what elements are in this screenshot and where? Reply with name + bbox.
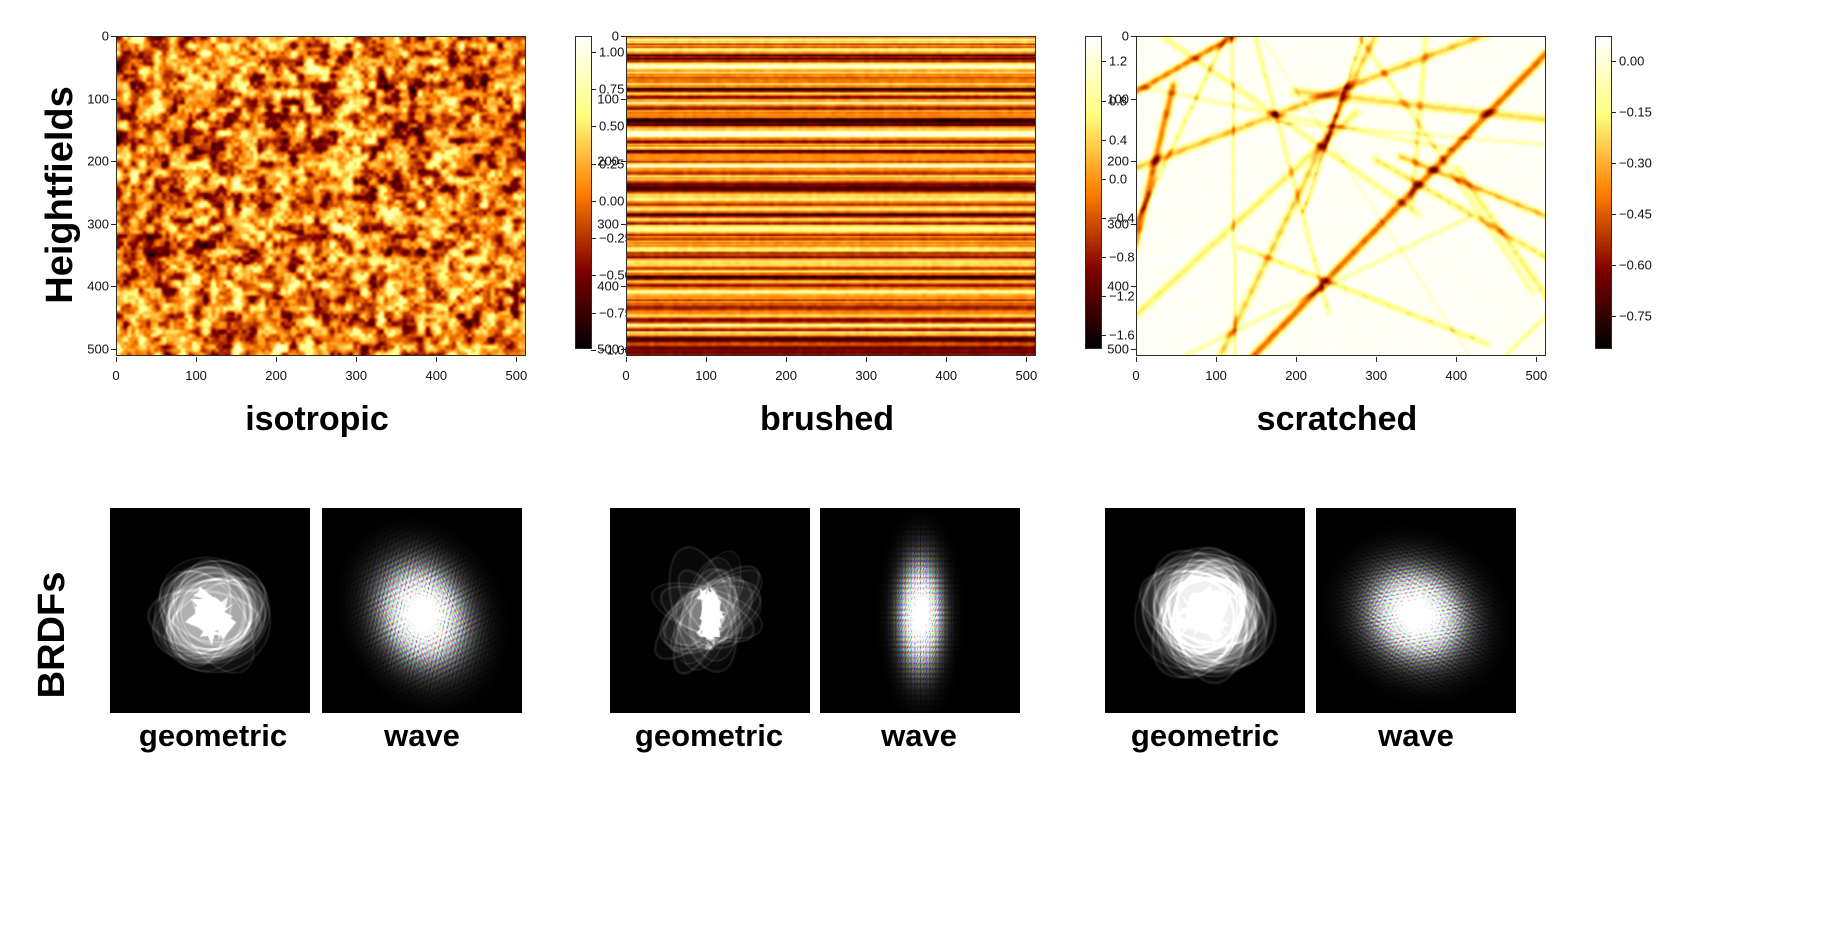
- x-tick-label: 0: [112, 368, 119, 383]
- y-tick-label: 100: [87, 91, 109, 106]
- colorbar-tick: [1611, 163, 1616, 164]
- y-tick-label: 200: [1107, 154, 1129, 169]
- colorbar-tick-label: 1.00: [599, 44, 624, 59]
- column-title-brushed: brushed: [760, 400, 894, 439]
- x-tick-label: 300: [1365, 368, 1387, 383]
- x-tick-label: 300: [855, 368, 877, 383]
- y-tick-mark: [621, 349, 626, 350]
- colorbar-tick-label: −0.8: [1109, 250, 1135, 265]
- x-tick-label: 400: [425, 368, 447, 383]
- column-title-scratched: scratched: [1257, 400, 1418, 439]
- colorbar-tick-label: −0.15: [1619, 104, 1652, 119]
- x-tick-mark: [706, 357, 707, 362]
- heightfield-plot-isotropic: [116, 36, 526, 356]
- y-tick-label: 500: [87, 341, 109, 356]
- colorbar-tick: [1101, 61, 1106, 62]
- x-tick-label: 200: [775, 368, 797, 383]
- y-tick-mark: [1131, 99, 1136, 100]
- x-tick-mark: [1536, 357, 1537, 362]
- colorbar-isotropic: 1.000.750.500.250.00−0.25−0.50−0.75−1.00: [575, 36, 592, 349]
- y-tick-mark: [1131, 161, 1136, 162]
- y-tick-label: 100: [597, 91, 619, 106]
- x-tick-label: 400: [1445, 368, 1467, 383]
- y-tick-label: 300: [1107, 216, 1129, 231]
- row-label-heightfields: Heightfields: [40, 80, 80, 310]
- colorbar-tick-label: −0.60: [1619, 257, 1652, 272]
- x-tick-mark: [436, 357, 437, 362]
- colorbar-tick: [1101, 335, 1106, 336]
- heightfield-image-scratched: [1137, 37, 1545, 355]
- colorbar-tick-label: −0.75: [1619, 308, 1652, 323]
- y-tick-mark: [1131, 36, 1136, 37]
- y-tick-mark: [1131, 286, 1136, 287]
- colorbar-tick: [1101, 140, 1106, 141]
- y-tick-mark: [111, 349, 116, 350]
- x-tick-mark: [1376, 357, 1377, 362]
- x-tick-label: 0: [1132, 368, 1139, 383]
- colorbar-tick: [1611, 214, 1616, 215]
- x-tick-mark: [1026, 357, 1027, 362]
- x-tick-label: 200: [1285, 368, 1307, 383]
- colorbar-tick: [1101, 179, 1106, 180]
- brdf-geometric-scratched: [1105, 508, 1305, 713]
- colorbar-scratched: 0.00−0.15−0.30−0.45−0.60−0.75: [1595, 36, 1612, 349]
- x-tick-label: 500: [1016, 368, 1038, 383]
- y-tick-mark: [621, 224, 626, 225]
- colorbar-tick-label: 0.4: [1109, 132, 1127, 147]
- x-tick-mark: [1216, 357, 1217, 362]
- colorbar-tick-label: 1.2: [1109, 54, 1127, 69]
- y-tick-label: 200: [87, 154, 109, 169]
- y-tick-mark: [621, 99, 626, 100]
- colorbar-tick-label: 0.00: [1619, 53, 1644, 68]
- y-tick-label: 400: [597, 279, 619, 294]
- colorbar-tick-label: 0.0: [1109, 171, 1127, 186]
- colorbar-tick-label: 0.00: [599, 193, 624, 208]
- colorbar-brushed: 1.20.80.40.0−0.4−0.8−1.2−1.6: [1085, 36, 1102, 349]
- brdf-wave-scratched: [1316, 508, 1516, 713]
- x-tick-label: 500: [1526, 368, 1548, 383]
- brdf-caption-wave-brushed: wave: [881, 718, 957, 754]
- x-tick-mark: [786, 357, 787, 362]
- brdf-wave-isotropic: [322, 508, 522, 713]
- colorbar-tick: [591, 313, 596, 314]
- colorbar-tick: [591, 52, 596, 53]
- colorbar-tick: [1101, 218, 1106, 219]
- colorbar-tick: [591, 126, 596, 127]
- x-tick-label: 100: [185, 368, 207, 383]
- x-tick-mark: [1136, 357, 1137, 362]
- colorbar-tick: [1101, 296, 1106, 297]
- colorbar-tick: [591, 201, 596, 202]
- colorbar-tick: [1101, 101, 1106, 102]
- y-tick-mark: [1131, 224, 1136, 225]
- y-tick-mark: [1131, 349, 1136, 350]
- x-tick-label: 100: [1205, 368, 1227, 383]
- colorbar-tick: [591, 275, 596, 276]
- y-tick-label: 100: [1107, 91, 1129, 106]
- y-tick-label: 500: [1107, 341, 1129, 356]
- x-tick-mark: [196, 357, 197, 362]
- brdf-geometric-isotropic: [110, 508, 310, 713]
- x-tick-label: 500: [506, 368, 528, 383]
- heightfield-image-brushed: [627, 37, 1035, 355]
- y-tick-label: 0: [1122, 29, 1129, 44]
- y-tick-label: 0: [102, 29, 109, 44]
- heightfield-plot-brushed: [626, 36, 1036, 356]
- x-tick-label: 200: [265, 368, 287, 383]
- figure-root: Heightfields BRDFs 010020030040050001002…: [0, 0, 1834, 926]
- x-tick-mark: [516, 357, 517, 362]
- brdf-geometric-brushed: [610, 508, 810, 713]
- x-tick-mark: [1456, 357, 1457, 362]
- y-tick-mark: [111, 99, 116, 100]
- x-tick-mark: [1296, 357, 1297, 362]
- colorbar-tick: [591, 350, 596, 351]
- x-tick-mark: [626, 357, 627, 362]
- y-tick-label: 400: [1107, 279, 1129, 294]
- x-tick-mark: [116, 357, 117, 362]
- x-tick-mark: [866, 357, 867, 362]
- y-tick-mark: [111, 224, 116, 225]
- brdf-caption-geometric-scratched: geometric: [1131, 718, 1279, 754]
- brdf-caption-wave-scratched: wave: [1378, 718, 1454, 754]
- y-tick-label: 300: [87, 216, 109, 231]
- x-tick-mark: [946, 357, 947, 362]
- heightfield-plot-scratched: [1136, 36, 1546, 356]
- y-tick-mark: [111, 286, 116, 287]
- y-tick-mark: [621, 36, 626, 37]
- y-tick-mark: [111, 161, 116, 162]
- x-tick-label: 400: [935, 368, 957, 383]
- y-tick-label: 500: [597, 341, 619, 356]
- colorbar-tick-label: −0.45: [1619, 206, 1652, 221]
- row-label-brdfs: BRDFs: [32, 545, 72, 725]
- y-tick-label: 300: [597, 216, 619, 231]
- x-tick-label: 300: [345, 368, 367, 383]
- heightfield-image-isotropic: [117, 37, 525, 355]
- colorbar-tick-label: 0.50: [599, 119, 624, 134]
- colorbar-tick: [1611, 61, 1616, 62]
- x-tick-mark: [276, 357, 277, 362]
- y-tick-mark: [111, 36, 116, 37]
- y-tick-mark: [621, 161, 626, 162]
- colorbar-tick: [1101, 257, 1106, 258]
- brdf-wave-brushed: [820, 508, 1020, 713]
- colorbar-tick-label: −0.30: [1619, 155, 1652, 170]
- x-tick-label: 0: [622, 368, 629, 383]
- brdf-caption-geometric-isotropic: geometric: [139, 718, 287, 754]
- column-title-isotropic: isotropic: [245, 400, 389, 439]
- y-tick-mark: [621, 286, 626, 287]
- colorbar-tick: [1611, 265, 1616, 266]
- x-tick-mark: [356, 357, 357, 362]
- x-tick-label: 100: [695, 368, 717, 383]
- y-tick-label: 0: [612, 29, 619, 44]
- brdf-caption-wave-isotropic: wave: [384, 718, 460, 754]
- colorbar-tick: [591, 164, 596, 165]
- y-tick-label: 200: [597, 154, 619, 169]
- colorbar-tick: [591, 238, 596, 239]
- y-tick-label: 400: [87, 279, 109, 294]
- colorbar-tick: [1611, 112, 1616, 113]
- colorbar-tick: [591, 89, 596, 90]
- brdf-caption-geometric-brushed: geometric: [635, 718, 783, 754]
- colorbar-tick: [1611, 316, 1616, 317]
